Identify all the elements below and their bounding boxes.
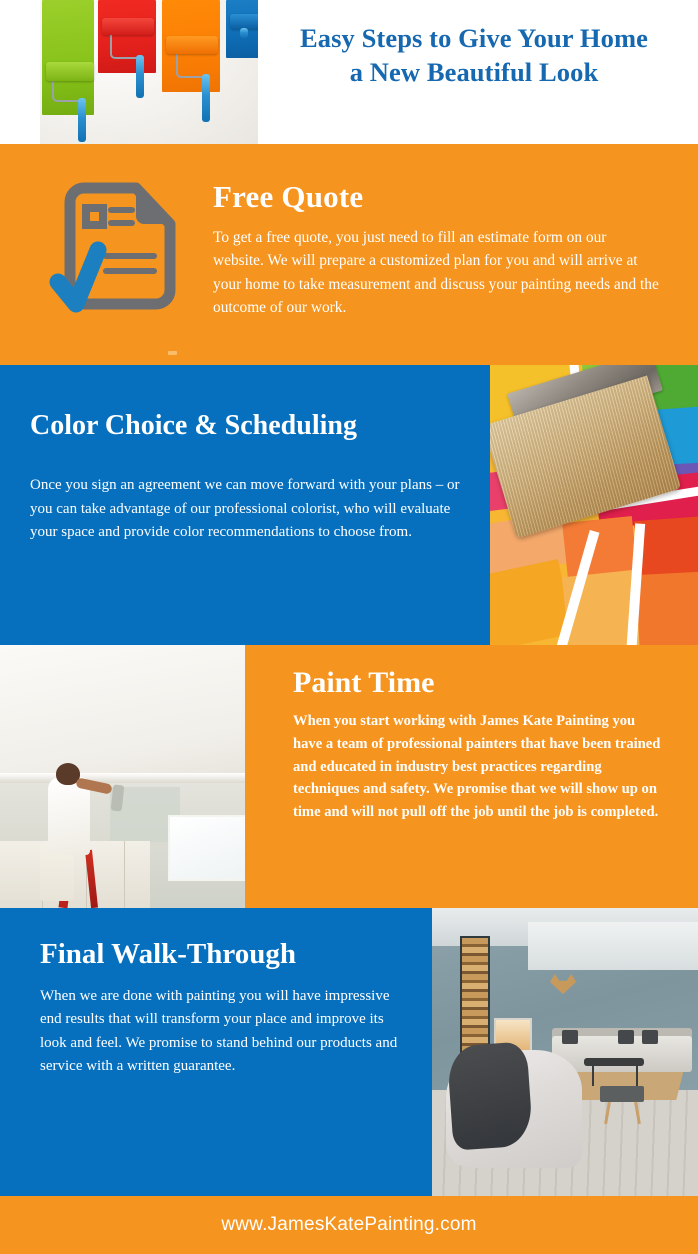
section-body-final-walk-through: When we are done with painting you will … — [40, 985, 408, 1078]
section-body-free-quote: To get a free quote, you just need to fi… — [213, 226, 661, 320]
footer-website-url[interactable]: www.JamesKatePainting.com — [221, 1214, 476, 1236]
stool-bench — [600, 1086, 644, 1102]
paint-roller-green — [46, 62, 94, 81]
section-heading-free-quote: Free Quote — [213, 181, 661, 212]
paint-roller-orange — [166, 36, 218, 54]
free-quote-content: Free Quote To get a free quote, you just… — [213, 181, 661, 320]
page-title-line-2: a New Beautiful Look — [266, 56, 682, 90]
room-ceiling — [0, 645, 245, 785]
roller-handle-blue — [240, 28, 248, 38]
header-band: Easy Steps to Give Your Home a New Beaut… — [0, 0, 698, 144]
living-room-photo — [432, 908, 698, 1196]
roller-handle-orange — [202, 74, 210, 122]
window — [168, 815, 245, 881]
firewood-nook — [460, 936, 490, 1062]
page-title: Easy Steps to Give Your Home a New Beaut… — [266, 22, 682, 90]
sofa-pillow-2 — [618, 1030, 634, 1044]
coffee-table — [584, 1058, 644, 1066]
section-body-paint-time: When you start working with James Kate P… — [293, 710, 665, 824]
roller-handle-red — [136, 55, 144, 98]
section-heading-final-walk-through: Final Walk-Through — [40, 940, 408, 969]
hero-paint-rollers-photo — [40, 0, 258, 144]
sofa-pillow-1 — [562, 1030, 578, 1044]
cabinet-divider-3 — [124, 841, 125, 908]
dark-throw-blanket — [446, 1041, 533, 1150]
infographic-page: Easy Steps to Give Your Home a New Beaut… — [0, 0, 698, 1254]
roller-handle-green — [78, 98, 86, 142]
footer-band: www.JamesKatePainting.com — [0, 1196, 698, 1254]
living-room-ceiling-back — [528, 922, 698, 970]
color-choice-content: Color Choice & Scheduling Once you sign … — [30, 412, 460, 545]
document-check-icon — [48, 178, 188, 328]
paint-roller-blue — [230, 14, 258, 29]
final-walk-through-content: Final Walk-Through When we are done with… — [40, 940, 408, 1078]
section-heading-color-choice: Color Choice & Scheduling — [30, 412, 460, 440]
page-title-line-1: Easy Steps to Give Your Home — [266, 22, 682, 56]
sofa-pillow-3 — [642, 1030, 658, 1044]
color-fan-photo — [490, 365, 698, 645]
section-heading-paint-time: Paint Time — [293, 668, 665, 698]
section-body-color-choice: Once you sign an agreement we can move f… — [30, 474, 460, 545]
image-artifact — [168, 351, 177, 355]
coffee-table-leg-1 — [592, 1066, 594, 1086]
coffee-table-leg-2 — [636, 1066, 638, 1086]
paint-time-content: Paint Time When you start working with J… — [293, 668, 665, 824]
painter-photo — [0, 645, 245, 908]
crown-molding — [0, 773, 245, 783]
swatch-card-orange — [562, 516, 637, 579]
paint-roller-red — [102, 18, 154, 35]
swatch-card-deep-orange — [636, 571, 698, 645]
